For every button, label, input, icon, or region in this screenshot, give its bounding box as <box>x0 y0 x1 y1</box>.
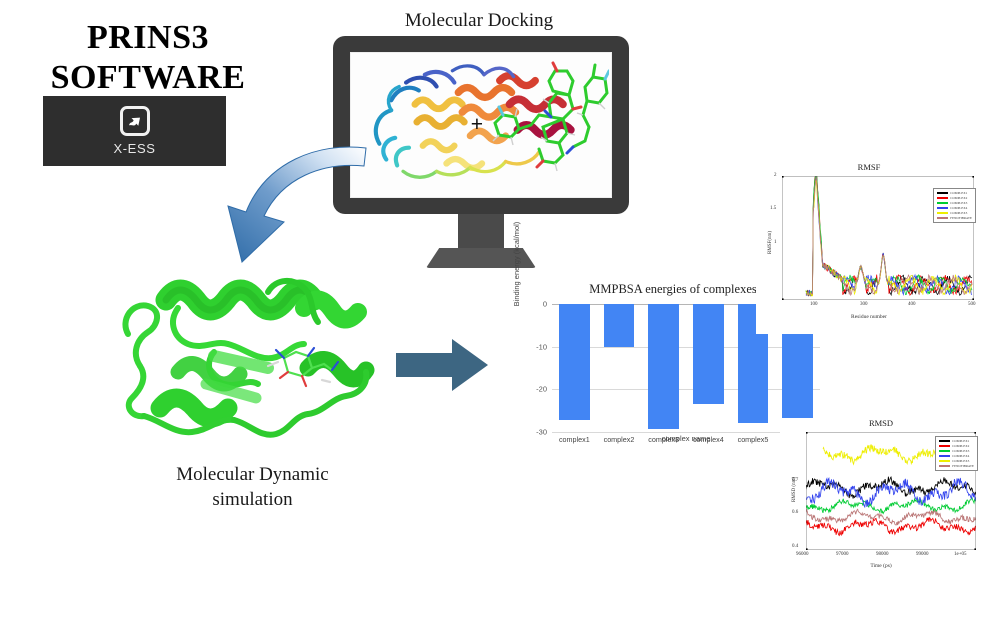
legend-label: COMPLEX1 <box>952 439 969 443</box>
md-protein-structure <box>118 248 386 460</box>
rmsd-xtick-5: 1e+05 <box>954 552 967 557</box>
x-ess-app-icon <box>120 106 150 136</box>
monitor-illustration: + <box>333 36 629 262</box>
legend-color-swatch <box>939 450 950 452</box>
rmsf-xtick-100: 100 <box>810 302 818 307</box>
plus-symbol: + <box>471 111 484 137</box>
legend-color-swatch <box>937 212 948 214</box>
rmsf-ytick-1: 1 <box>774 240 777 245</box>
title-line-1: PRINS3 <box>87 19 209 56</box>
mmpbsa-y-tick-label: -30 <box>536 428 547 437</box>
mmpbsa-y-axis-label: Binding energy (kcal/mol) <box>512 212 521 316</box>
legend-item: COMPLEX2 <box>939 444 974 448</box>
monitor-bezel: + <box>333 36 629 214</box>
legend-item: FENOFIBRATE <box>937 216 972 220</box>
legend-color-swatch <box>939 445 950 447</box>
legend-label: COMPLEX4 <box>950 206 967 210</box>
mmpbsa-gridline <box>552 347 820 348</box>
mmpbsa-bar <box>559 304 589 420</box>
legend-label: FENOFIBRATE <box>952 464 974 468</box>
mmpbsa-y-tick-label: 0 <box>543 300 547 309</box>
legend-color-swatch <box>937 217 948 219</box>
md-step-caption: Molecular Dynamic simulation <box>130 462 375 512</box>
rmsf-line-chart: RMSF RMSF(nm) Residue number 2 1.5 1 100… <box>756 162 982 334</box>
legend-label: FENOFIBRATE <box>950 216 972 220</box>
rmsf-xtick-300: 300 <box>860 302 868 307</box>
rmsf-legend: COMPLEX1COMPLEX2COMPLEX3COMPLEX4COMPLEX5… <box>933 188 976 223</box>
mmpbsa-gridline <box>552 389 820 390</box>
legend-color-swatch <box>939 460 950 462</box>
legend-item: COMPLEX4 <box>939 454 974 458</box>
rmsd-xtick-1: 96000 <box>796 552 809 557</box>
legend-color-swatch <box>939 455 950 457</box>
legend-color-swatch <box>937 207 948 209</box>
legend-item: COMPLEX3 <box>939 449 974 453</box>
legend-color-swatch <box>937 202 948 204</box>
rmsd-x-axis-label: Time (ps) <box>780 563 982 569</box>
right-arrow-icon <box>396 337 488 393</box>
legend-item: COMPLEX5 <box>937 211 972 215</box>
rmsd-line-chart: RMSD RMSD (nm) Time (ps) 0.7 0.6 0.4 960… <box>780 418 982 580</box>
docking-step-title: Molecular Docking <box>374 10 584 32</box>
rmsd-legend: COMPLEX1COMPLEX2COMPLEX3COMPLEX4COMPLEX5… <box>935 436 978 471</box>
legend-label: COMPLEX2 <box>952 444 969 448</box>
legend-item: COMPLEX2 <box>937 196 972 200</box>
mmpbsa-bar <box>604 304 634 347</box>
legend-label: COMPLEX3 <box>952 449 969 453</box>
md-caption-line-2: simulation <box>130 487 375 512</box>
legend-label: COMPLEX1 <box>950 191 967 195</box>
legend-label: COMPLEX2 <box>950 196 967 200</box>
legend-item: COMPLEX1 <box>939 439 974 443</box>
rmsf-y-axis-label: RMSF(nm) <box>768 231 773 254</box>
legend-item: COMPLEX1 <box>937 191 972 195</box>
md-caption-line-1: Molecular Dynamic <box>130 462 375 487</box>
legend-color-swatch <box>939 440 950 442</box>
legend-label: COMPLEX5 <box>950 211 967 215</box>
rmsf-ytick-1.5: 1.5 <box>770 206 776 211</box>
legend-color-swatch <box>937 192 948 194</box>
legend-item: FENOFIBRATE <box>939 464 974 468</box>
legend-item: COMPLEX5 <box>939 459 974 463</box>
legend-label: COMPLEX3 <box>950 201 967 205</box>
rmsf-xtick-500: 500 <box>968 302 976 307</box>
rmsf-xtick-400: 400 <box>908 302 916 307</box>
legend-color-swatch <box>939 465 950 467</box>
legend-item: COMPLEX3 <box>937 201 972 205</box>
mmpbsa-bar <box>693 304 723 404</box>
rmsd-ytick-0.6: 0.6 <box>792 510 798 515</box>
rmsd-xtick-4: 99000 <box>916 552 929 557</box>
rmsf-x-axis-label: Residue number <box>756 314 982 320</box>
rmsd-xtick-2: 97000 <box>836 552 849 557</box>
rmsf-chart-title: RMSF <box>756 162 982 172</box>
legend-label: COMPLEX5 <box>952 459 969 463</box>
legend-label: COMPLEX4 <box>952 454 969 458</box>
page-title: PRINS3 SOFTWARE <box>28 18 268 98</box>
rmsd-ytick-0.4: 0.4 <box>792 544 798 549</box>
ligand-molecule-structure <box>489 59 609 189</box>
mmpbsa-y-tick-label: -10 <box>536 342 547 351</box>
title-line-2: SOFTWARE <box>28 58 268 98</box>
legend-color-swatch <box>937 197 948 199</box>
mmpbsa-bar <box>648 304 678 429</box>
mmpbsa-y-tick-label: -20 <box>536 385 547 394</box>
rmsd-ytick-0.7: 0.7 <box>792 478 798 483</box>
rmsd-xtick-3: 98000 <box>876 552 889 557</box>
legend-item: COMPLEX4 <box>937 206 972 210</box>
monitor-screen: + <box>350 52 612 198</box>
rmsf-ytick-2: 2 <box>774 173 777 178</box>
rmsd-chart-title: RMSD <box>780 418 982 428</box>
x-ess-label: X-ESS <box>113 141 155 156</box>
